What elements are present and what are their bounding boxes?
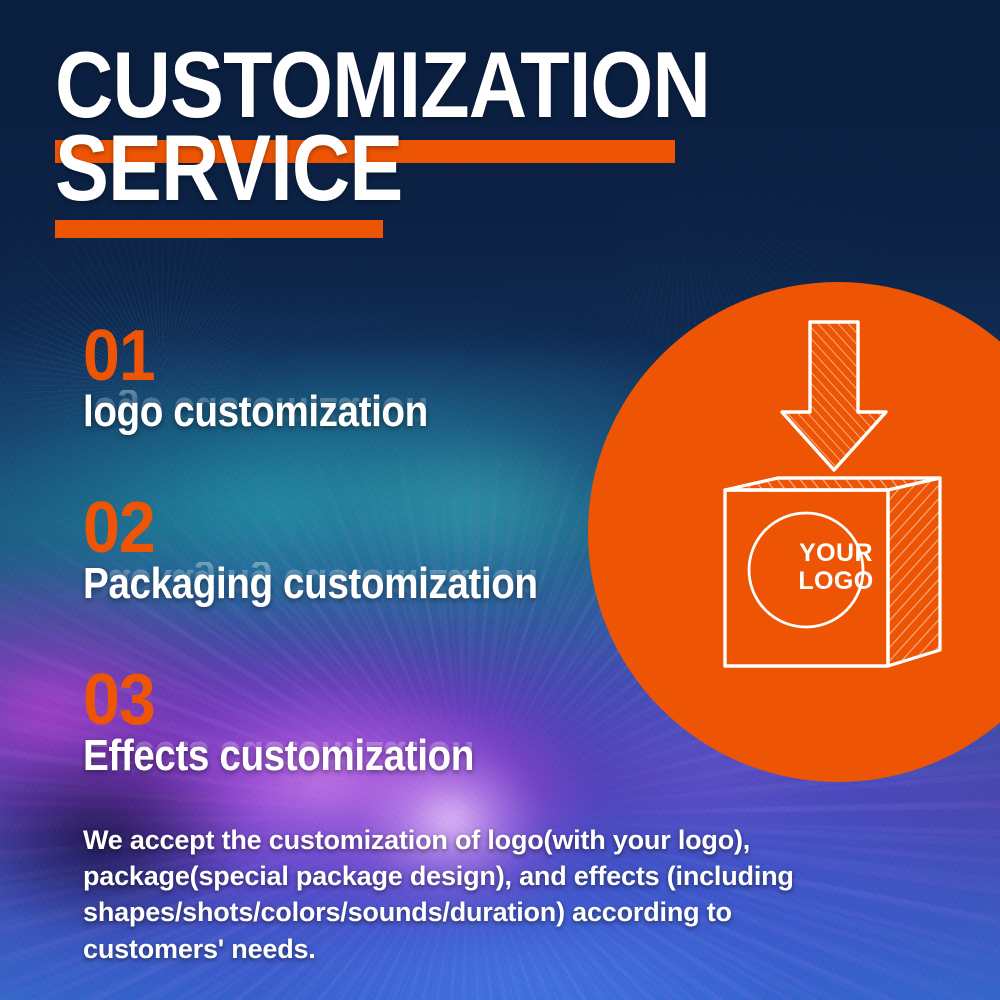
- item-label: logo customization: [83, 390, 428, 434]
- list-item: 01 logo customization logo customization: [83, 328, 475, 436]
- headline-line-1: CUSTOMIZATION: [55, 46, 817, 123]
- paragraph-line-3: shapes/shots/colors/sounds/duration) acc…: [83, 894, 853, 930]
- item-label-wrap: Effects customization Effects customizat…: [83, 734, 527, 780]
- package-illustration: [588, 282, 1000, 782]
- headline-line-2: SERVICE: [55, 129, 817, 206]
- paragraph-line-2: package(special package design), and eff…: [83, 858, 853, 894]
- item-number: 02: [83, 500, 558, 556]
- item-number: 03: [83, 672, 492, 728]
- paragraph-line-1: We accept the customization of logo(with…: [83, 822, 853, 858]
- item-label-wrap: logo customization logo customization: [83, 390, 475, 436]
- logo-placeholder-text: YOUR LOGO: [780, 539, 892, 595]
- logo-placeholder-line-2: LOGO: [780, 567, 892, 595]
- item-label-wrap: Packaging customization Packaging custom…: [83, 562, 600, 608]
- headline-block: CUSTOMIZATION SERVICE: [55, 46, 817, 206]
- down-arrow-icon: [782, 322, 886, 470]
- logo-placeholder-line-1: YOUR: [780, 539, 892, 567]
- customization-service-poster: CUSTOMIZATION SERVICE 01 logo customizat…: [0, 0, 1000, 1000]
- description-paragraph: We accept the customization of logo(with…: [83, 822, 853, 967]
- paragraph-line-4: customers' needs.: [83, 931, 853, 967]
- headline-title-primary: CUSTOMIZATION: [55, 46, 710, 123]
- item-label: Effects customization: [83, 734, 474, 778]
- headline-underline-bar-2: [55, 220, 383, 238]
- list-item: 03 Effects customization Effects customi…: [83, 672, 527, 780]
- item-label: Packaging customization: [83, 562, 538, 606]
- item-number: 01: [83, 328, 444, 384]
- list-item: 02 Packaging customization Packaging cus…: [83, 500, 600, 608]
- headline-title-secondary: SERVICE: [55, 129, 710, 206]
